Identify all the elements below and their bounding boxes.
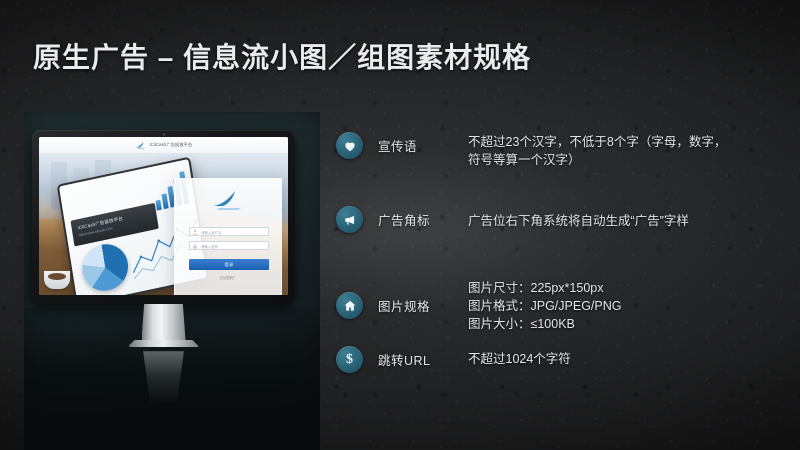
login-submit-button[interactable]: 登录 [189, 259, 269, 270]
brand-bird-icon [135, 141, 147, 149]
monitor-base [128, 340, 200, 347]
spec-line: 图片大小：≤100KB [468, 315, 784, 333]
spec-description: 图片尺寸：225px*150px 图片格式：JPG/JPEG/PNG 图片大小：… [468, 279, 784, 333]
spec-label: 跳转URL [378, 350, 431, 369]
lock-icon [192, 243, 198, 249]
dollar-glyph: $ [346, 353, 353, 367]
monitor-neck [142, 304, 186, 340]
spec-label: 广告角标 [378, 210, 430, 229]
coffee-cup [44, 271, 70, 289]
spec-line: 不超过23个汉字，不低于8个字（字母，数字， [468, 133, 784, 151]
spec-row-ad-badge: 广告角标 广告位右下角系统将自动生成“广告”字样 [336, 206, 784, 264]
spec-line: 广告位右下角系统将自动生成“广告”字样 [468, 212, 784, 230]
spec-line: 不超过1024个字符 [468, 350, 784, 368]
spec-row-landing-url: $ 跳转URL 不超过1024个字符 [336, 346, 784, 404]
slide: 原生广告 – 信息流小图／组图素材规格 iCliCash广告投放平台 [0, 0, 800, 450]
site-header: iCliCash广告投放平台 [39, 137, 288, 154]
spec-line: 图片格式：JPG/JPEG/PNG [468, 297, 784, 315]
password-placeholder: 请输入密码 [201, 244, 218, 249]
webcam-dot [162, 133, 165, 136]
spec-description: 广告位右下角系统将自动生成“广告”字样 [468, 212, 784, 230]
page-title: 原生广告 – 信息流小图／组图素材规格 [33, 36, 531, 76]
site-brand-label: iCliCash广告投放平台 [150, 142, 193, 148]
monitor-reflection [134, 351, 194, 405]
hero-photo: iCliCash广告投放平台 http://www.clicash.com [39, 154, 288, 295]
pie-chart [79, 240, 131, 295]
login-card: 请输入用户名 请输入密码 登录 忘记密码？ [174, 178, 282, 295]
username-field[interactable]: 请输入用户名 [189, 227, 269, 236]
spec-line: 图片尺寸：225px*150px [468, 279, 784, 297]
spec-line: 符号等算一个汉字） [468, 151, 784, 169]
spec-row-image-spec: 图片规格 图片尺寸：225px*150px 图片格式：JPG/JPEG/PNG … [336, 278, 784, 336]
monitor-screen: iCliCash广告投放平台 iCliCash广告投放平台 http://www… [39, 137, 288, 295]
brand-bird-icon [211, 189, 245, 211]
forgot-password-link[interactable]: 忘记密码？ [220, 275, 237, 280]
spec-description: 不超过23个汉字，不低于8个字（字母，数字， 符号等算一个汉字） [468, 133, 784, 169]
spec-list: 宣传语 不超过23个汉字，不低于8个字（字母，数字， 符号等算一个汉字） 广告角… [336, 128, 784, 404]
spec-label: 宣传语 [378, 136, 417, 155]
monitor-bezel: iCliCash广告投放平台 iCliCash广告投放平台 http://www… [32, 130, 295, 304]
username-placeholder: 请输入用户名 [201, 230, 221, 235]
spec-row-slogan: 宣传语 不超过23个汉字，不低于8个字（字母，数字， 符号等算一个汉字） [336, 132, 784, 190]
monitor-preview: iCliCash广告投放平台 iCliCash广告投放平台 http://www… [32, 130, 295, 405]
password-field[interactable]: 请输入密码 [189, 241, 269, 250]
user-icon [192, 229, 198, 235]
home-icon [336, 292, 363, 319]
heart-icon [336, 132, 363, 159]
login-submit-label: 登录 [225, 262, 234, 268]
spec-description: 不超过1024个字符 [468, 350, 784, 368]
megaphone-icon [336, 206, 363, 233]
spec-label: 图片规格 [378, 296, 430, 315]
dollar-icon: $ [336, 346, 363, 373]
